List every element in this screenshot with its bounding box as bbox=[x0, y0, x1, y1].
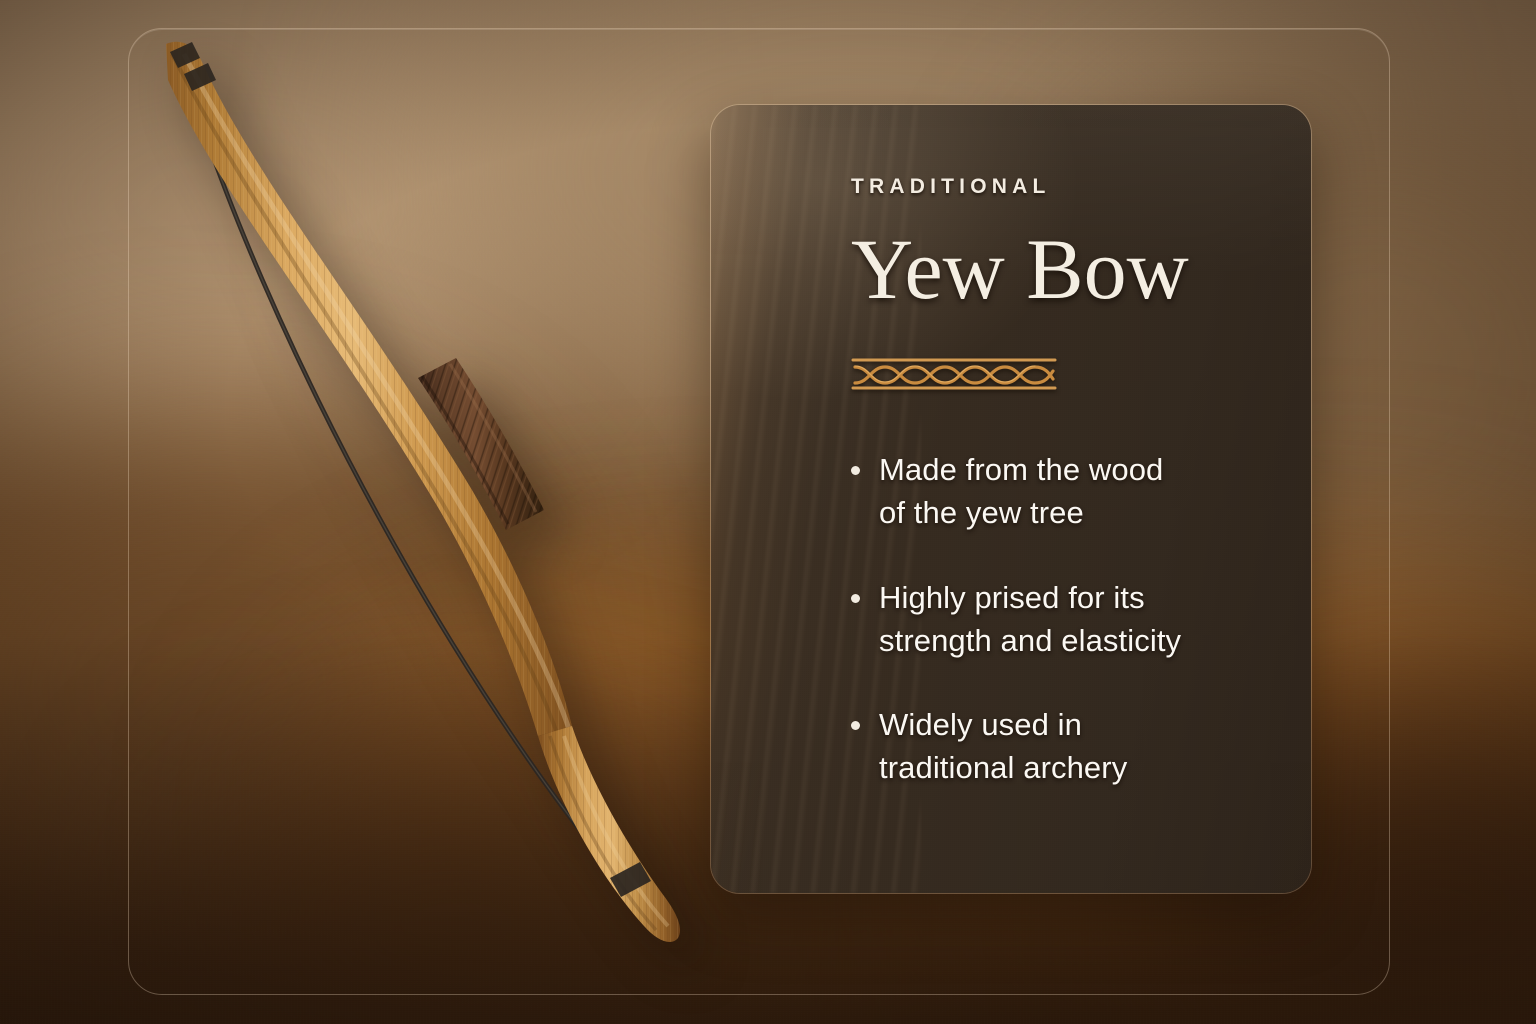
yew-bow-illustration bbox=[120, 20, 720, 1000]
info-card: TRADITIONAL Yew Bow Made from the wood o… bbox=[710, 104, 1312, 894]
bullet-dot-icon bbox=[851, 594, 860, 603]
bullet-dot-icon bbox=[851, 721, 860, 730]
list-item-text: Widely used in traditional archery bbox=[879, 707, 1127, 785]
feature-list: Made from the wood of the yew tree Highl… bbox=[851, 449, 1277, 790]
list-item: Made from the wood of the yew tree bbox=[851, 449, 1191, 535]
scene: TRADITIONAL Yew Bow Made from the wood o… bbox=[0, 0, 1536, 1024]
page-title: Yew Bow bbox=[851, 227, 1277, 311]
celtic-braid-ornament-icon bbox=[851, 355, 1057, 393]
card-eyebrow: TRADITIONAL bbox=[851, 175, 1277, 199]
list-item: Highly prised for its strength and elast… bbox=[851, 577, 1191, 663]
list-item-text: Highly prised for its strength and elast… bbox=[879, 580, 1181, 658]
list-item-text: Made from the wood of the yew tree bbox=[879, 452, 1163, 530]
card-content: TRADITIONAL Yew Bow Made from the wood o… bbox=[851, 175, 1277, 873]
lower-limb bbox=[120, 620, 720, 1000]
list-item: Widely used in traditional archery bbox=[851, 704, 1191, 790]
bullet-dot-icon bbox=[851, 466, 860, 475]
